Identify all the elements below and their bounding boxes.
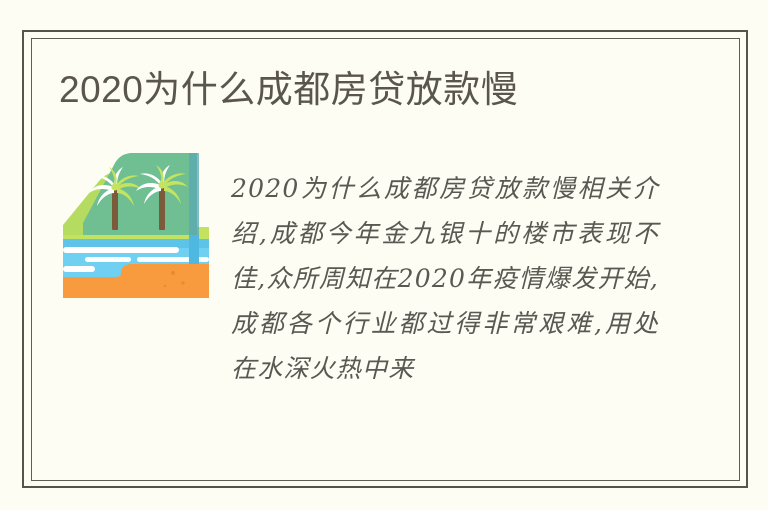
sand-speckle-2	[181, 281, 184, 284]
palm-trunk-right	[159, 185, 165, 230]
water-edge-shade	[189, 235, 199, 269]
page-title: 2020为什么成都房贷放款慢	[59, 66, 699, 114]
sand-speckle-1	[171, 271, 175, 275]
water-shade	[63, 239, 209, 248]
palm-crown-left	[111, 183, 118, 190]
island-green	[83, 153, 197, 235]
wave-line-4	[63, 266, 95, 272]
palm-crown-right	[158, 181, 165, 188]
palm-trunk-left	[112, 187, 118, 230]
beach-island-illustration	[63, 147, 209, 298]
page-root: 2020为什么成都房贷放款慢	[0, 0, 768, 510]
island-edge-shade	[189, 153, 199, 235]
article-body: 2020为什么成都房贷放款慢相关介绍,成都今年金九银十的楼市表现不佳,众所周知在…	[231, 166, 659, 391]
sand-speckle-3	[164, 285, 167, 288]
wave-line-2	[85, 257, 131, 262]
beach-island-icon	[63, 147, 209, 298]
wave-line-1	[63, 247, 179, 253]
